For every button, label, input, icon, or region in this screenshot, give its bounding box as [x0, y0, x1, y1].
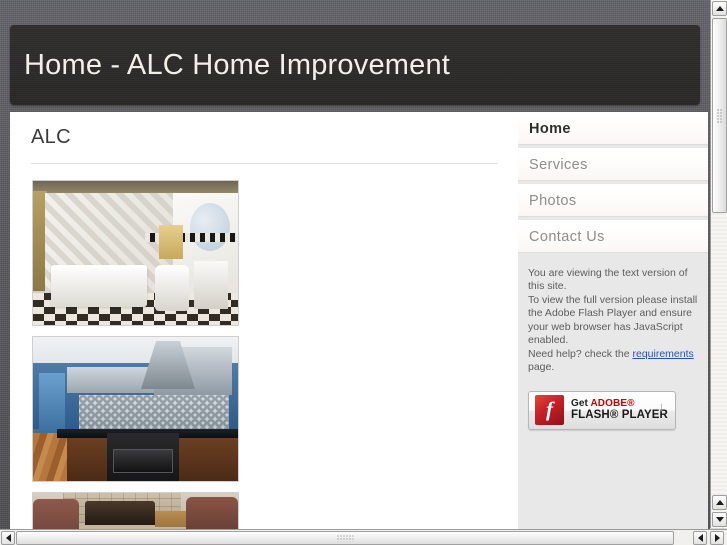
flash-badge-line-2: FLASH® PLAYER	[571, 409, 668, 422]
sidebar-item-contact-us[interactable]: Contact Us	[518, 220, 708, 253]
sidebar-item-label: Photos	[529, 193, 577, 209]
scroll-left-button-right-group[interactable]	[693, 531, 707, 545]
notice-line-1: You are viewing the text version of this…	[528, 267, 698, 294]
flash-logo-icon: f	[535, 395, 564, 425]
triangle-right-icon	[715, 534, 720, 542]
flash-logo-glyph: f	[546, 399, 553, 420]
horizontal-scrollbar-thumb[interactable]	[16, 531, 674, 545]
living-room-photo[interactable]	[32, 492, 239, 529]
scroll-up-button-bottom[interactable]	[712, 495, 727, 510]
triangle-left-icon	[698, 534, 703, 542]
flash-badge-get: Get	[571, 398, 590, 409]
triangle-up-icon	[716, 6, 724, 11]
page-background: Home - ALC Home Improvement ALC	[0, 0, 710, 529]
scroll-right-button[interactable]	[710, 531, 724, 545]
flash-badge-adobe: ADOBE®	[590, 398, 634, 409]
page-title: Home - ALC Home Improvement	[24, 49, 450, 82]
triangle-up-icon	[716, 500, 724, 505]
scrollbar-grip-icon	[716, 108, 723, 123]
bathroom-photo[interactable]	[32, 180, 239, 326]
scroll-down-button-bottom[interactable]	[712, 512, 727, 527]
browser-viewport: Home - ALC Home Improvement ALC	[0, 0, 727, 545]
notice-line-3-suffix: page.	[528, 361, 554, 373]
vertical-scrollbar-thumb[interactable]	[712, 18, 727, 213]
content-heading: ALC	[31, 126, 502, 149]
triangle-down-icon	[716, 517, 724, 522]
sidebar-item-photos[interactable]: Photos	[518, 184, 708, 217]
vertical-scrollbar[interactable]	[710, 0, 727, 529]
flash-badge-line-1: Get ADOBE®	[571, 398, 668, 409]
scroll-up-button-top[interactable]	[712, 1, 727, 16]
download-arrow-icon: ↓	[658, 400, 666, 414]
requirements-link[interactable]: requirements	[633, 348, 694, 360]
main-content-panel: ALC	[10, 112, 518, 529]
triangle-left-icon	[6, 534, 11, 542]
notice-line-2: To view the full version please install …	[528, 294, 698, 348]
sidebar-item-label: Contact Us	[529, 229, 605, 245]
scrollbar-grip-icon	[337, 535, 354, 542]
sidebar-item-label: Home	[529, 121, 571, 137]
get-adobe-flash-player-button[interactable]: f Get ADOBE® FLASH® PLAYER ↓	[528, 391, 676, 430]
text-version-notice: You are viewing the text version of this…	[518, 253, 708, 375]
sidebar-item-label: Services	[529, 157, 588, 173]
sidebar-item-services[interactable]: Services	[518, 148, 708, 181]
heading-divider	[31, 163, 498, 164]
notice-line-3-prefix: Need help? check the	[528, 348, 633, 360]
scroll-left-button[interactable]	[1, 531, 15, 545]
horizontal-scrollbar[interactable]	[0, 529, 727, 545]
sidebar-item-home[interactable]: Home	[518, 112, 708, 145]
sidebar: Home Services Photos Contact Us You are …	[518, 112, 708, 529]
notice-line-3: Need help? check the requirements page.	[528, 348, 698, 375]
site-header-banner: Home - ALC Home Improvement	[10, 25, 700, 105]
kitchen-photo[interactable]	[32, 336, 239, 482]
